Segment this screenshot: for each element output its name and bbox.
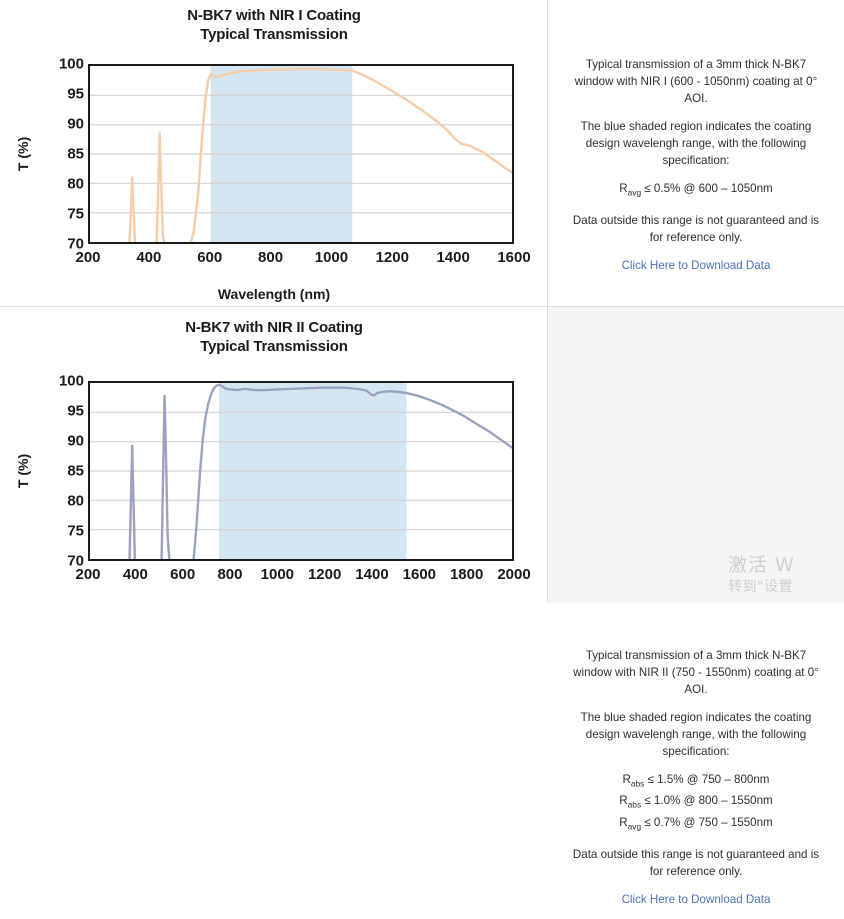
panel-1-shaded-note: The blue shaded region indicates the coa… [566,118,826,169]
chart-2-x-ticks: 200400600800100012001400160018002000 [88,566,514,586]
spec-line: Rabs ≤ 1.0% @ 800 – 1550nm [566,792,826,813]
chart-1-x-axis-title: Wavelength (nm) [0,286,548,302]
panel-1-disclaimer: Data outside this range is not guarantee… [566,212,826,246]
spec-line: Ravg ≤ 0.7% @ 750 – 1550nm [566,814,826,835]
chart-2-plot-frame [88,381,514,561]
y-tick-label: 85 [67,146,84,163]
windows-activation-watermark: 激活 W 转到"设置 [728,553,844,597]
y-tick-label: 90 [67,433,84,450]
watermark-line-1: 激活 W [728,553,844,577]
description-cell-nir2: Typical transmission of a 3mm thick N-BK… [548,307,844,603]
x-tick-label: 1000 [261,566,294,583]
chart-1-title-line2: Typical Transmission [0,25,548,44]
panel-2-shaded-note: The blue shaded region indicates the coa… [566,709,826,760]
y-tick-label: 95 [67,86,84,103]
chart-1-title-line1: N-BK7 with NIR I Coating [0,6,548,25]
x-tick-label: 1200 [308,566,341,583]
transmission-charts-page: N-BK7 with NIR I Coating Typical Transmi… [0,0,844,603]
chart-1-x-ticks: 2004006008001000120014001600 [88,249,514,269]
chart-2-title-line2: Typical Transmission [0,337,548,356]
y-tick-label: 100 [59,373,84,390]
x-tick-label: 1400 [355,566,388,583]
chart-1-title: N-BK7 with NIR I Coating Typical Transmi… [0,6,548,44]
panel-1-specs: Ravg ≤ 0.5% @ 600 – 1050nm [566,180,826,201]
spec-line: Ravg ≤ 0.5% @ 600 – 1050nm [566,180,826,201]
x-tick-label: 400 [136,249,161,266]
chart-2-y-axis-title: T (%) [15,441,31,501]
chart-2-title: N-BK7 with NIR II Coating Typical Transm… [0,318,548,356]
spec-line: Rabs ≤ 1.5% @ 750 – 800nm [566,771,826,792]
panel-2-download-row: Click Here to Download Data [566,891,826,908]
description-text-nir2: Typical transmission of a 3mm thick N-BK… [566,647,826,919]
x-tick-label: 800 [258,249,283,266]
chart-1-plot-area [88,64,514,244]
x-tick-label: 200 [75,566,100,583]
x-tick-label: 1400 [436,249,469,266]
x-tick-label: 600 [170,566,195,583]
y-tick-label: 95 [67,403,84,420]
chart-1-y-axis-title: T (%) [15,124,31,184]
x-tick-label: 600 [197,249,222,266]
y-tick-label: 80 [67,176,84,193]
chart-2-svg [90,383,512,559]
panel-1-intro: Typical transmission of a 3mm thick N-BK… [566,56,826,107]
x-tick-label: 1000 [315,249,348,266]
chart-1-y-ticks: 707580859095100 [38,64,84,244]
description-text-nir1: Typical transmission of a 3mm thick N-BK… [566,56,826,285]
x-tick-label: 400 [123,566,148,583]
panel-1-download-row: Click Here to Download Data [566,257,826,274]
x-tick-label: 1800 [450,566,483,583]
chart-2-title-line1: N-BK7 with NIR II Coating [0,318,548,337]
x-tick-label: 800 [217,566,242,583]
x-tick-label: 1600 [497,249,530,266]
panel-2-disclaimer: Data outside this range is not guarantee… [566,846,826,880]
chart-1-plot-frame [88,64,514,244]
description-cell-nir1: Typical transmission of a 3mm thick N-BK… [548,0,844,307]
x-tick-label: 1600 [403,566,436,583]
x-tick-label: 2000 [497,566,530,583]
download-data-link-nir2[interactable]: Click Here to Download Data [622,893,771,906]
y-tick-label: 90 [67,116,84,133]
chart-2-plot-area [88,381,514,561]
chart-cell-nir1: N-BK7 with NIR I Coating Typical Transmi… [0,0,548,307]
y-tick-label: 80 [67,493,84,510]
panel-2-intro: Typical transmission of a 3mm thick N-BK… [566,647,826,698]
x-tick-label: 1200 [376,249,409,266]
download-data-link-nir1[interactable]: Click Here to Download Data [622,259,771,272]
panel-2-specs: Rabs ≤ 1.5% @ 750 – 800nmRabs ≤ 1.0% @ 8… [566,771,826,835]
y-tick-label: 75 [67,523,84,540]
y-tick-label: 85 [67,463,84,480]
chart-2-y-ticks: 707580859095100 [38,381,84,561]
x-tick-label: 200 [75,249,100,266]
chart-1-svg [90,66,512,242]
y-tick-label: 100 [59,56,84,73]
watermark-line-2: 转到"设置 [728,577,844,597]
y-tick-label: 75 [67,206,84,223]
